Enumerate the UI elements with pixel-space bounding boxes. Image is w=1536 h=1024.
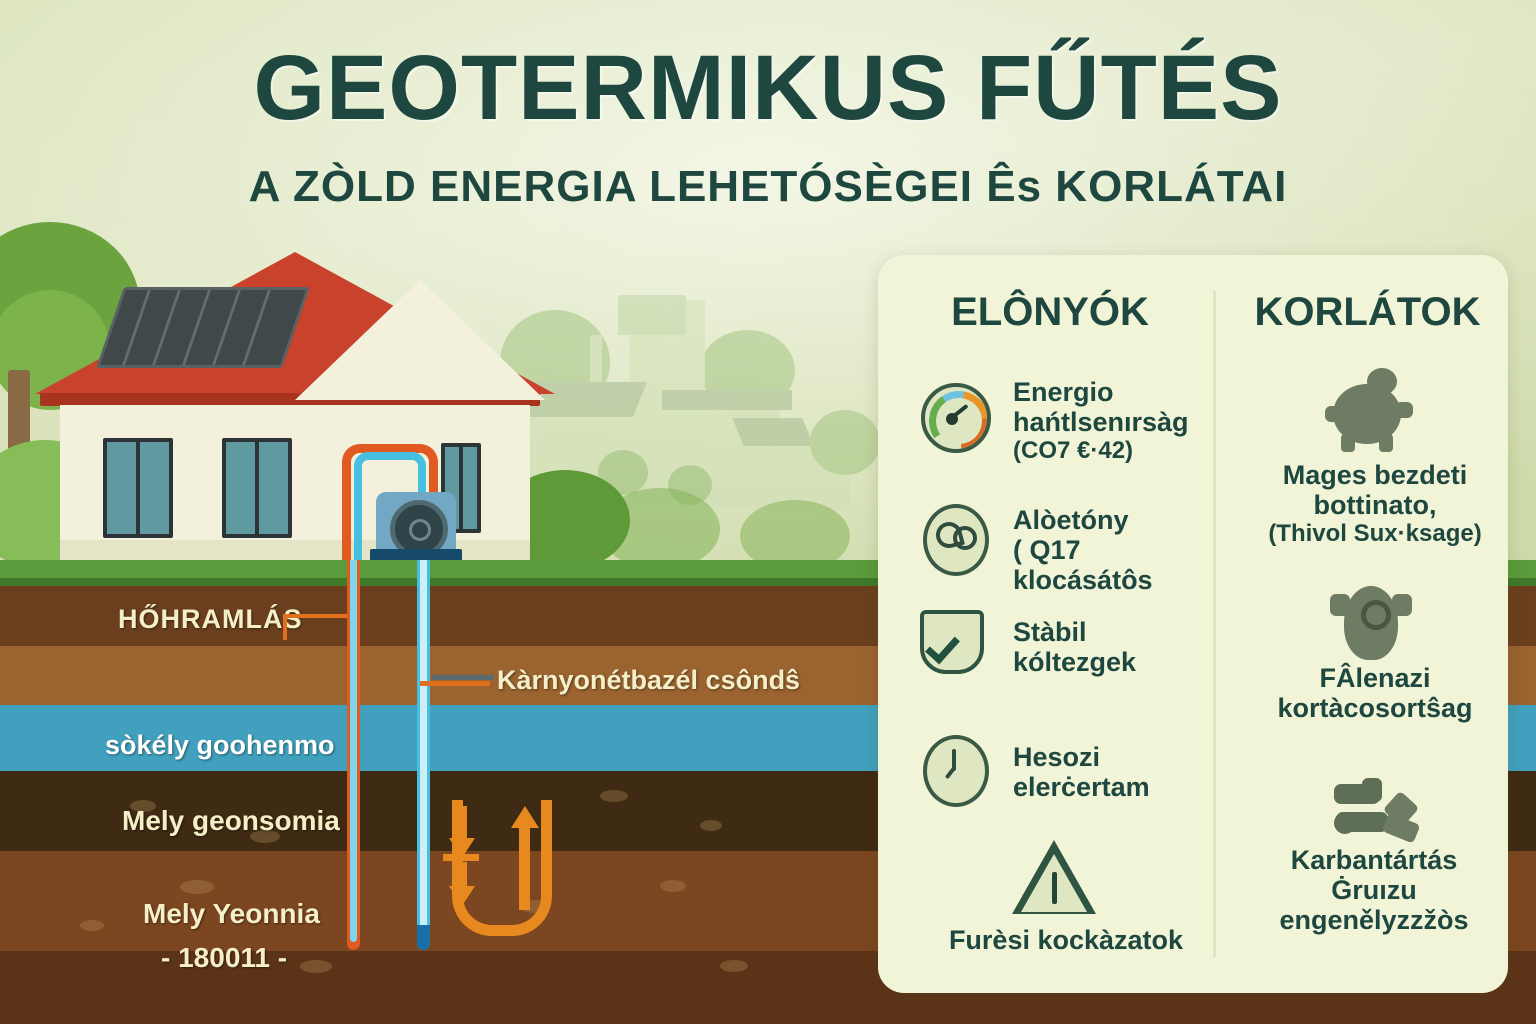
cons-item-3-line3: engenělyzzžòs [1228,905,1520,935]
page-title: GEOTERMIKUS FŰTÉS [0,36,1536,141]
cons-item-3-line2: Ġruızu [1228,875,1520,905]
leader-line-heat-flow [283,614,347,640]
drill-head-icon [1330,582,1414,672]
piggy-bank-icon [1325,366,1421,458]
pros-item-4: Hesozi elerċertam [1013,742,1213,802]
leader-line-probe-shadow [432,675,494,680]
pros-item-2-line1: Alòetóny [1013,505,1213,535]
cons-item-1: Mages bezdeti bottinato, (Thivol Sux·ksa… [1240,460,1510,548]
up-arrow-icon [511,806,539,828]
warning-triangle-icon [1012,840,1098,918]
cons-item-3: Karbantártás Ġruızu engenělyzzžòs [1228,845,1520,936]
label-deep2: Mely Yeonnia [143,898,320,930]
borehole-tip-icon [417,925,430,950]
house-gable [295,280,545,400]
cons-item-1-line2: bottinato, [1240,490,1510,520]
pros-item-1-line3: (CO7 €·42) [1013,437,1208,465]
cool-pipe-down [354,500,362,562]
warm-pipe-down [342,500,351,562]
pros-item-3-line2: kóltezgek [1013,647,1213,677]
pros-item-1: Energio hańtlsenırsàg (CO7 €·42) [1013,377,1208,465]
pros-heading: ELÔNYÓK [900,290,1200,335]
pros-item-5: Furèsi kockàzatok [926,925,1206,955]
label-depth-value: - 180011 - [161,942,287,974]
house-window [103,438,173,538]
borehole-pipe-warm-core [350,560,357,942]
house-window [222,438,292,538]
label-heat-flow: HŐHRAMLÁS [118,604,303,635]
shield-check-icon [920,610,984,682]
solar-panel-icon [96,287,310,368]
infographic-canvas: HŐHRAMLÁS Kàrnyonétbazél csôndŝ sòkély g… [0,0,1536,1024]
page-subtitle: A ZÒLD ENERGIA LEHETÓSÈGEI Ês KORLÁTAI [0,162,1536,212]
pros-item-1-line1: Energio [1013,377,1208,407]
cons-item-3-line1: Karbantártás [1228,845,1520,875]
cons-item-2-line1: FÂlenazi [1230,663,1520,693]
cons-item-2: FÂlenazi kortàcosortŝag [1230,663,1520,723]
pros-item-2: Alòetóny ( Q17 klocásátôs [1013,505,1213,596]
label-shallow: sòkély goohenmo [105,730,335,761]
cons-item-2-line2: kortàcosortŝag [1230,693,1520,723]
pros-item-4-line1: Hesozi [1013,742,1213,772]
borehole-pipe-cold-core [420,560,427,935]
cons-item-1-line1: Mages bezdeti [1240,460,1510,490]
label-deep: Mely geonsomia [122,805,340,837]
pros-item-5-line1: Furèsi kockàzatok [926,925,1206,955]
pros-item-1-line2: hańtlsenırsàg [1013,407,1208,437]
cons-item-1-line3: (Thivol Sux·ksage) [1240,520,1510,548]
circulation-up-stem [519,828,530,910]
pros-item-2-line2: ( Q17 klocásátôs [1013,535,1213,595]
leader-line-probe [420,681,490,686]
coin-icon [923,504,989,576]
pros-item-4-line2: elerċertam [1013,772,1213,802]
clock-icon [923,735,989,807]
panel-column-divider [1213,290,1216,958]
cons-heading: KORLÁTOK [1230,290,1505,335]
pros-item-3: Stàbil kóltezgek [1013,617,1213,677]
label-probe: Kàrnyonétbazél csôndŝ [497,665,800,696]
pros-item-3-line1: Stàbil [1013,617,1213,647]
gauge-icon [921,383,991,453]
